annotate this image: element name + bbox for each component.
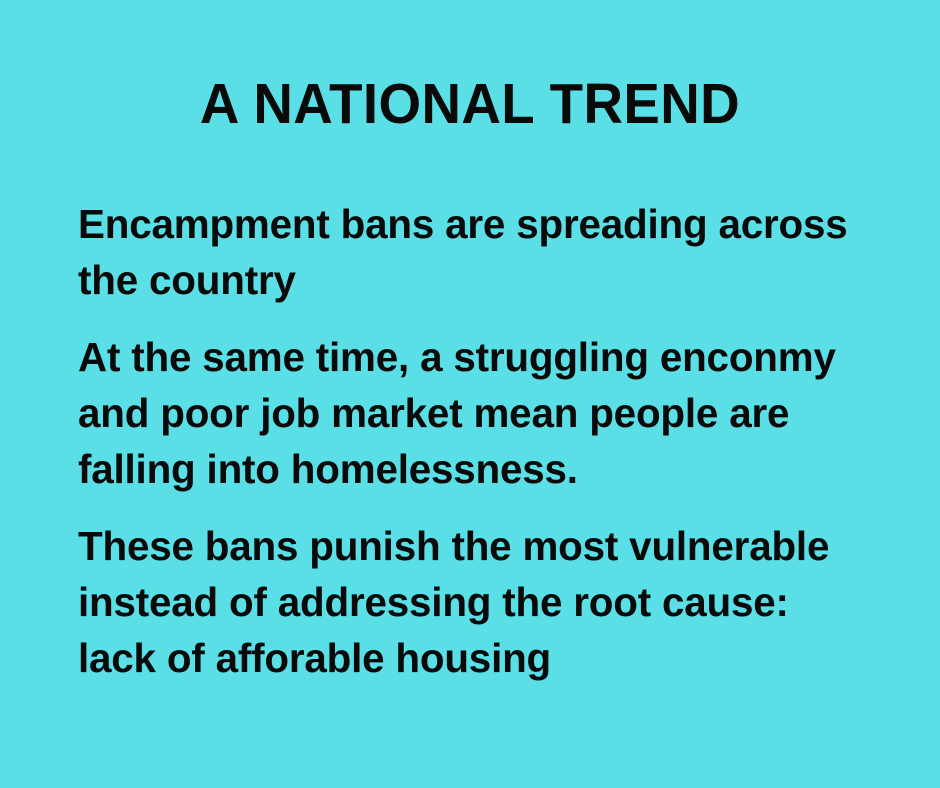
body-paragraph-encampment-bans: Encampment bans are spreading across the… bbox=[78, 196, 866, 308]
slide-canvas: A NATIONAL TREND Encampment bans are spr… bbox=[0, 0, 940, 788]
body-paragraph-struggling-economy: At the same time, a struggling enconmy a… bbox=[78, 329, 866, 497]
page-title: A NATIONAL TREND bbox=[19, 76, 921, 133]
body-paragraph-root-cause: These bans punish the most vulnerable in… bbox=[78, 518, 866, 686]
slide-body: Encampment bans are spreading across the… bbox=[78, 196, 878, 686]
